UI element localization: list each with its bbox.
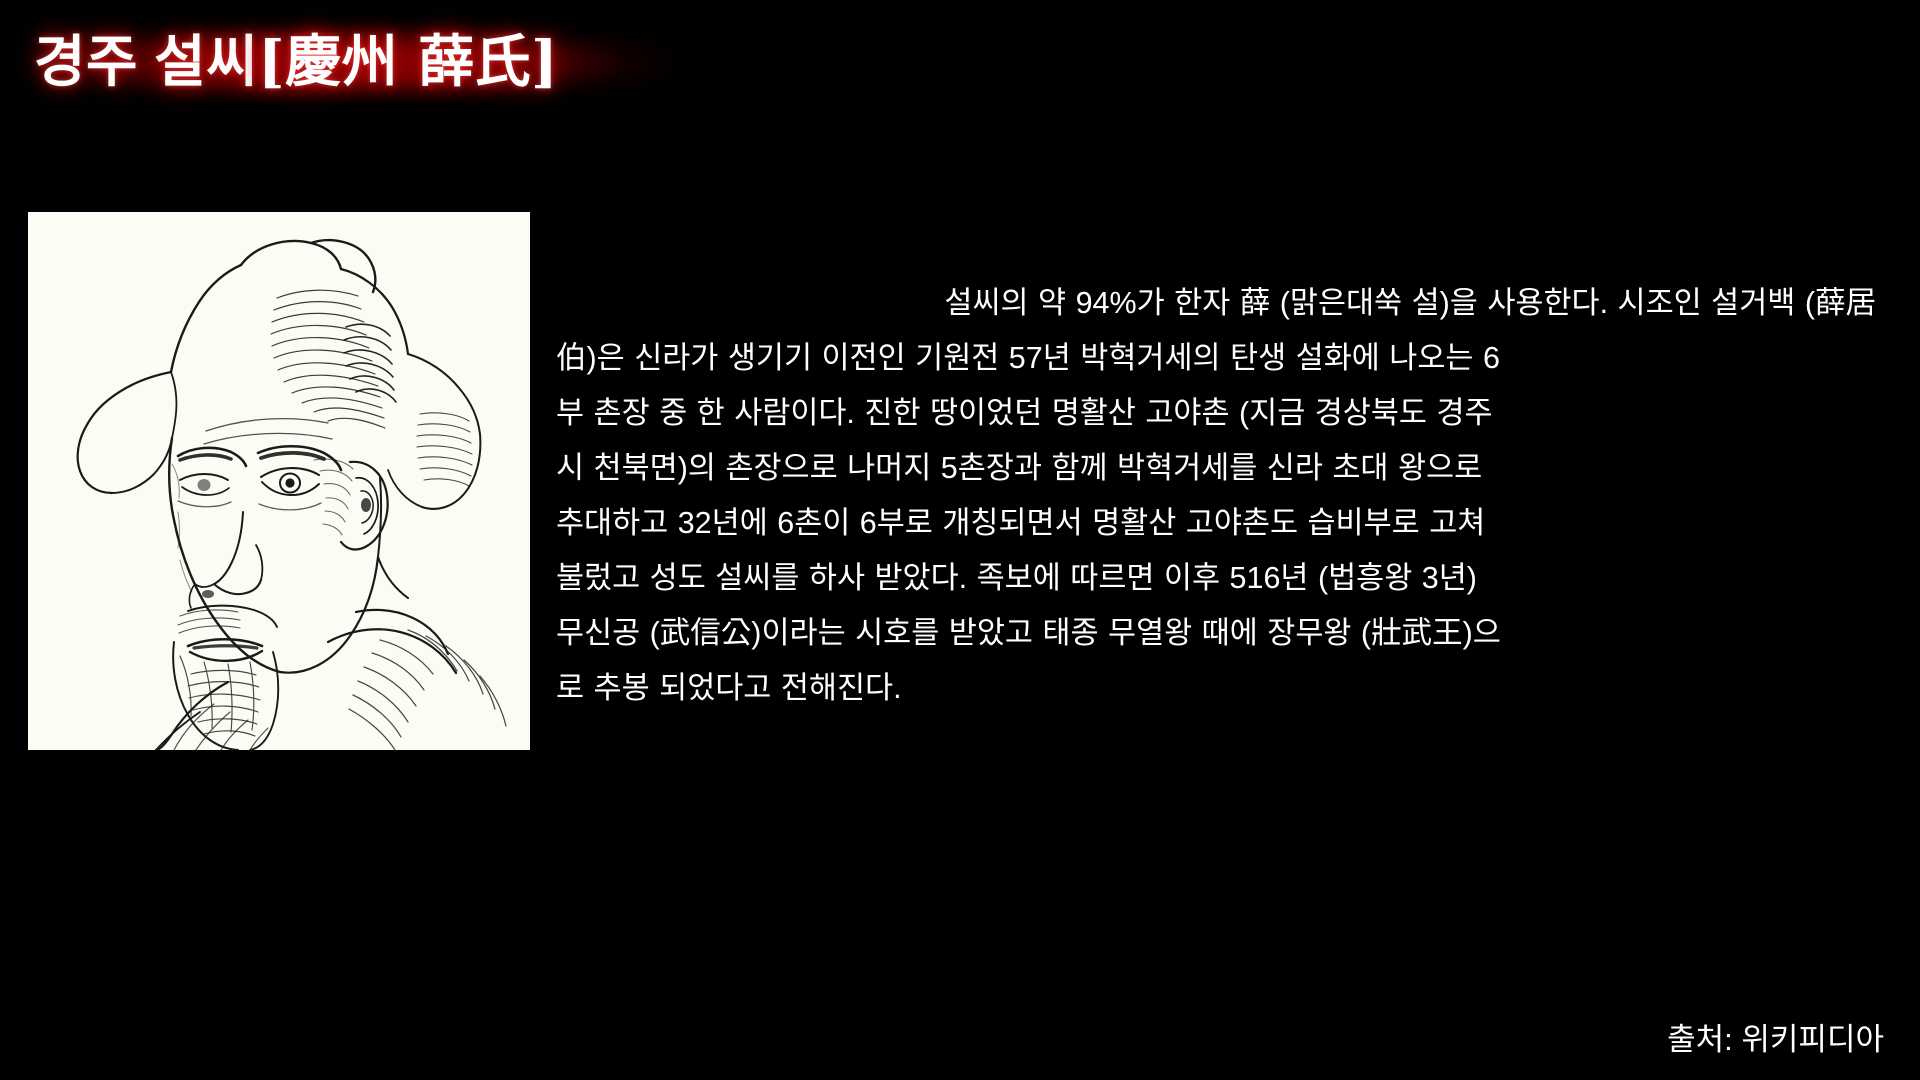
body-line-8: 로 추봉 되었다고 전해진다. <box>556 661 1876 716</box>
body-line-6: 불렀고 성도 설씨를 하사 받았다. 족보에 따르면 이후 516년 (법흥왕 … <box>556 551 1876 606</box>
body-line-5: 추대하고 32년에 6촌이 6부로 개칭되면서 명활산 고야촌도 습비부로 고쳐 <box>556 496 1876 551</box>
page-title: 경주 설씨[慶州 薛氏] <box>34 14 934 110</box>
source-label: 출처: 위키피디아 <box>1667 1021 1884 1058</box>
portrait-image <box>28 212 530 750</box>
title-text: 경주 설씨[慶州 薛氏] <box>34 34 558 90</box>
title-korean: 경주 설씨 <box>34 30 258 93</box>
body-line-3: 부 촌장 중 한 사람이다. 진한 땅이었던 명활산 고야촌 (지금 경상북도 … <box>556 386 1876 441</box>
body-line-7: 무신공 (武信公)이라는 시호를 받았고 태종 무열왕 때에 장무왕 (壯武王)… <box>556 606 1876 661</box>
body-text-block: 설씨의 약 94%가 한자 薛 (맑은대쑥 설)을 사용한다. 시조인 설거백 … <box>556 276 1876 716</box>
portrait-line-drawing <box>28 212 530 750</box>
body-line-4: 시 천북면)의 촌장으로 나머지 5촌장과 함께 박혁거세를 신라 초대 왕으로 <box>556 441 1876 496</box>
title-hanja: [慶州 薛氏] <box>258 29 558 95</box>
body-line-2: 伯)은 신라가 생기기 이전인 기원전 57년 박혁거세의 탄생 설화에 나오는… <box>556 331 1876 386</box>
slide-root: 경주 설씨[慶州 薛氏] <box>0 0 1920 1080</box>
body-paragraph: 설씨의 약 94%가 한자 薛 (맑은대쑥 설)을 사용한다. 시조인 설거백 … <box>556 276 1876 716</box>
body-line-1: 설씨의 약 94%가 한자 薛 (맑은대쑥 설)을 사용한다. 시조인 설거백 … <box>556 276 1876 331</box>
